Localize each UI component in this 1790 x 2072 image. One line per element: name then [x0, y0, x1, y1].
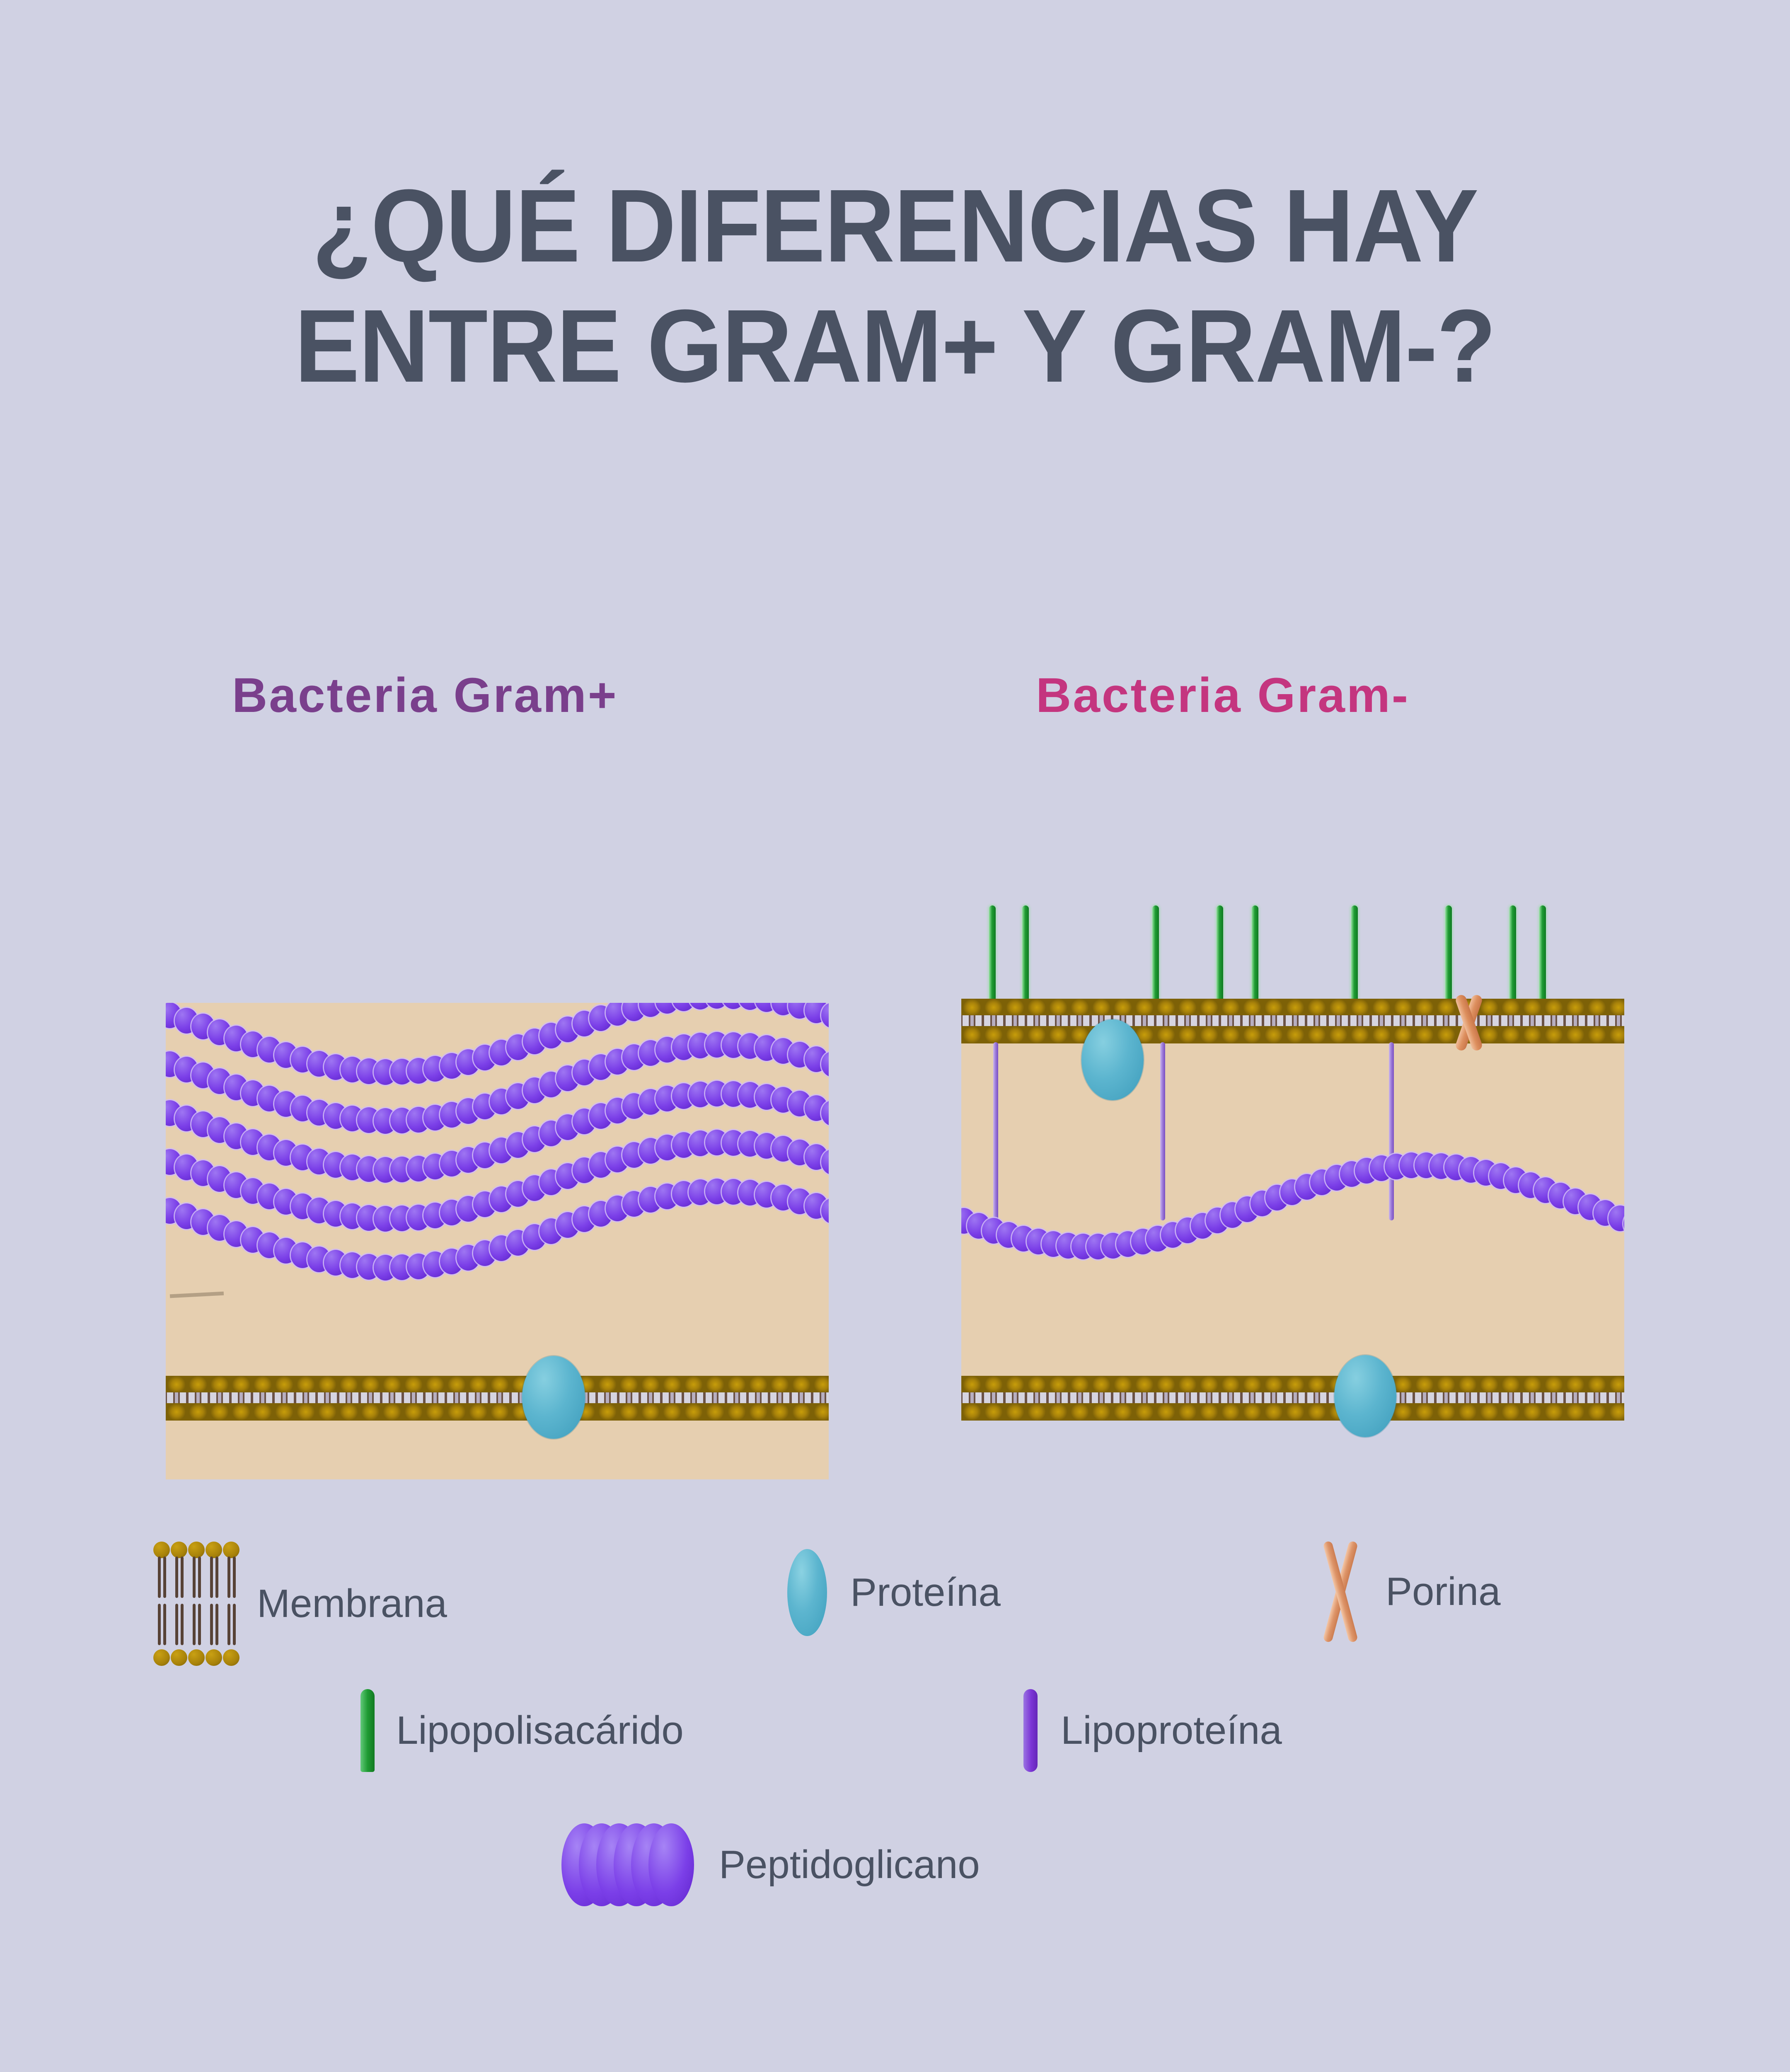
inner-membrane-protein [1334, 1355, 1396, 1437]
membrane-tail-3a [193, 1556, 196, 1598]
membrane-head-top-2 [171, 1542, 187, 1558]
membrane-tail-2d [181, 1604, 184, 1645]
membrane-tail-2b [181, 1556, 184, 1598]
membrane-head-row-top [166, 1376, 829, 1393]
title-line-2: ENTRE GRAM+ Y GRAM-? [54, 286, 1737, 406]
diagram-gram-positive [166, 1003, 829, 1479]
membrane-icon [153, 1542, 240, 1666]
title-line-1: ¿QUÉ DIFERENCIAS HAY [54, 166, 1737, 286]
membrane-head-row-bottom [166, 1403, 829, 1421]
membrane-protein [522, 1356, 585, 1439]
membrane-head-row-bottom [961, 1403, 1624, 1421]
membrane-tail-4b [215, 1556, 218, 1598]
membrane-tail-3d [198, 1604, 201, 1645]
membrane-head-top-5 [223, 1542, 239, 1558]
legend-item-porina: Porina [1309, 1540, 1501, 1644]
page-title: ¿QUÉ DIFERENCIAS HAY ENTRE GRAM+ Y GRAM-… [54, 166, 1737, 406]
legend-item-proteina: Proteína [787, 1549, 1001, 1636]
membrane-tail-5d [233, 1604, 236, 1645]
porin-icon [1309, 1540, 1372, 1644]
membrane-tail-4d [215, 1604, 218, 1645]
column-heading-gram-negative: Bacteria Gram- [1036, 667, 1410, 724]
legend-row-3: Peptidoglicano [0, 1753, 1790, 1857]
membrane-tail-3b [198, 1556, 201, 1598]
membrane-tail-5b [233, 1556, 236, 1598]
protein-icon [787, 1549, 827, 1636]
legend: Membrana Proteína Porina Lipopolisacárid… [0, 1542, 1790, 1857]
membrane-tail-5a [227, 1556, 230, 1598]
legend-item-peptidoglicano: Peptidoglicano [561, 1823, 980, 1906]
membrane-tail-5c [227, 1604, 230, 1645]
membrane-tail-1c [158, 1604, 161, 1645]
diagram-gram-negative [961, 903, 1624, 1479]
membrane-tail-1b [163, 1556, 166, 1598]
legend-label-porina: Porina [1386, 1569, 1501, 1615]
column-heading-gram-positive: Bacteria Gram+ [232, 667, 618, 724]
membrane-head-top-1 [153, 1542, 170, 1558]
membrane-tail-row [961, 1392, 1624, 1404]
peptidoglycan-icon [561, 1823, 694, 1906]
legend-row-1: Membrana Proteína Porina [0, 1542, 1790, 1649]
membrane-head-top-4 [206, 1542, 222, 1558]
membrane-tail-3c [193, 1604, 196, 1645]
membrane-tail-2c [175, 1604, 178, 1645]
membrane-tail-2a [175, 1556, 178, 1598]
legend-item-membrana: Membrana [153, 1542, 447, 1666]
legend-label-membrana: Membrana [257, 1581, 447, 1627]
legend-label-peptidoglicano: Peptidoglicano [719, 1842, 980, 1888]
membrane-tail-4a [210, 1556, 213, 1598]
plasma-membrane-gram-positive [166, 1376, 829, 1421]
membrane-tail-1d [163, 1604, 166, 1645]
legend-label-lipoproteina: Lipoproteína [1061, 1708, 1282, 1753]
legend-label-proteina: Proteína [850, 1570, 1001, 1615]
membrane-tail-4c [210, 1604, 213, 1645]
membrane-tail-1a [158, 1556, 161, 1598]
membrane-head-row-top [961, 1376, 1624, 1393]
legend-label-lipopolisacarido: Lipopolisacárido [396, 1708, 684, 1753]
peptidoglycan-bead-6 [648, 1823, 694, 1906]
legend-row-2: Lipopolisacárido Lipoproteína [0, 1649, 1790, 1753]
inner-membrane [961, 1376, 1624, 1421]
membrane-head-top-3 [188, 1542, 205, 1558]
membrane-tail-row [166, 1392, 829, 1404]
